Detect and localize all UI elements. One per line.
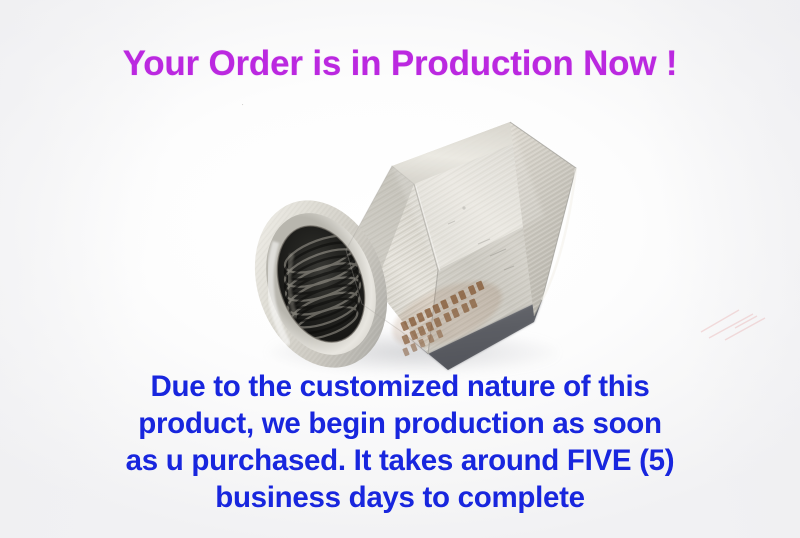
page-title: Your Order is in Production Now ! (0, 44, 800, 84)
order-status-notice: Your Order is in Production Now ! (0, 0, 800, 538)
faint-watermark (695, 298, 773, 346)
notice-line-4: business days to complete (0, 479, 800, 516)
notice-line-3: as u purchased. It takes around FIVE (5) (0, 442, 800, 479)
notice-line-2: product, we begin production as soon (0, 405, 800, 442)
notice-line-1: Due to the customized nature of this (0, 368, 800, 405)
production-notice-text: Due to the customized nature of this pro… (0, 368, 800, 516)
product-photo-hex-coupling (242, 104, 592, 389)
